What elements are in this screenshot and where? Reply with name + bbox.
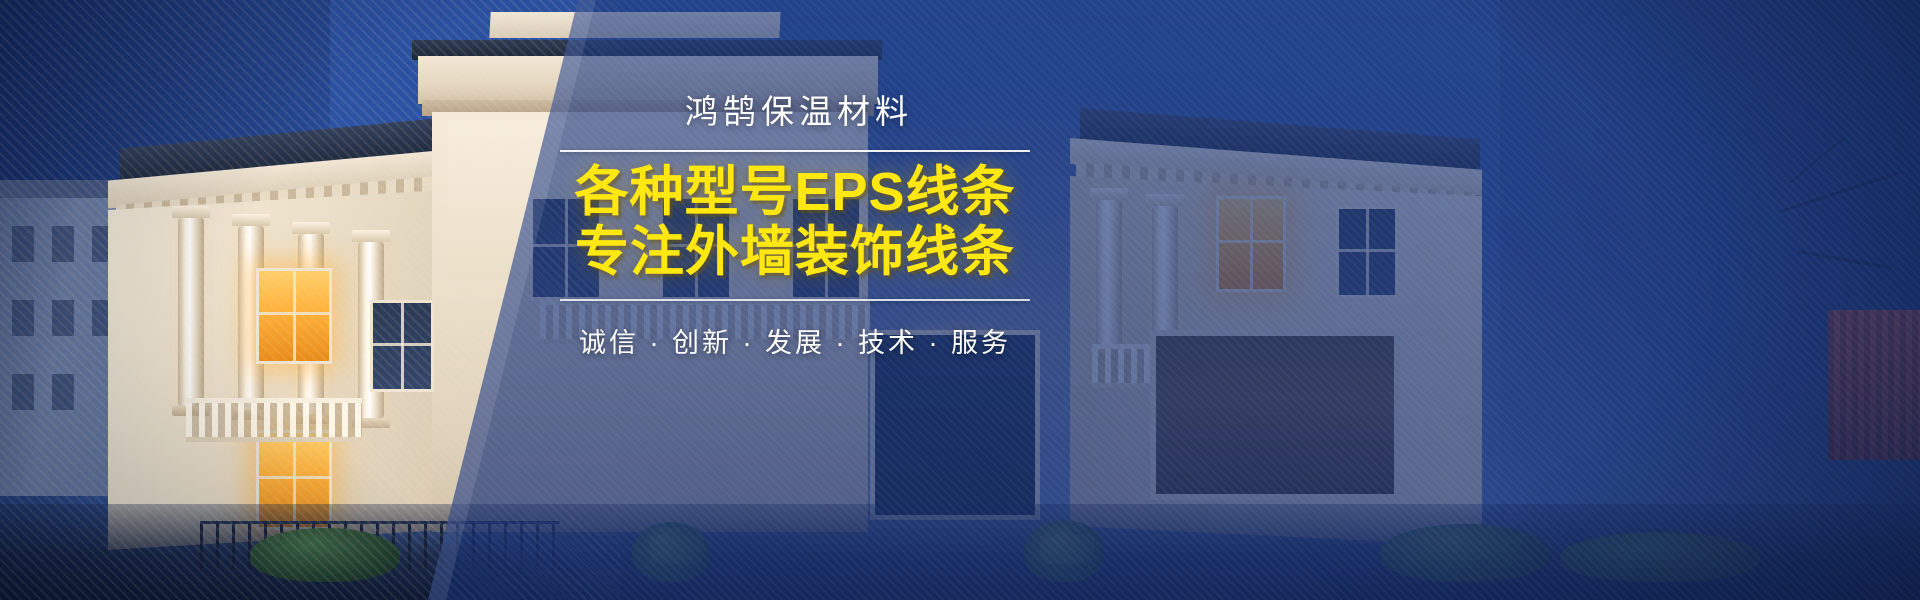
headline-line-2: 专注外墙装饰线条: [560, 222, 1030, 282]
headline-line-1: 各种型号EPS线条: [560, 162, 1030, 222]
tagline: 诚信 · 创新 · 发展 · 技术 · 服务: [560, 321, 1030, 360]
brand-name: 鸿鹄保温材料: [560, 92, 1030, 132]
banner-copy: 鸿鹄保温材料 各种型号EPS线条 专注外墙装饰线条 诚信 · 创新 · 发展 ·…: [560, 92, 1030, 360]
divider-top: [560, 150, 1030, 152]
hero-banner: 鸿鹄保温材料 各种型号EPS线条 专注外墙装饰线条 诚信 · 创新 · 发展 ·…: [0, 0, 1920, 600]
divider-bottom: [560, 299, 1030, 301]
